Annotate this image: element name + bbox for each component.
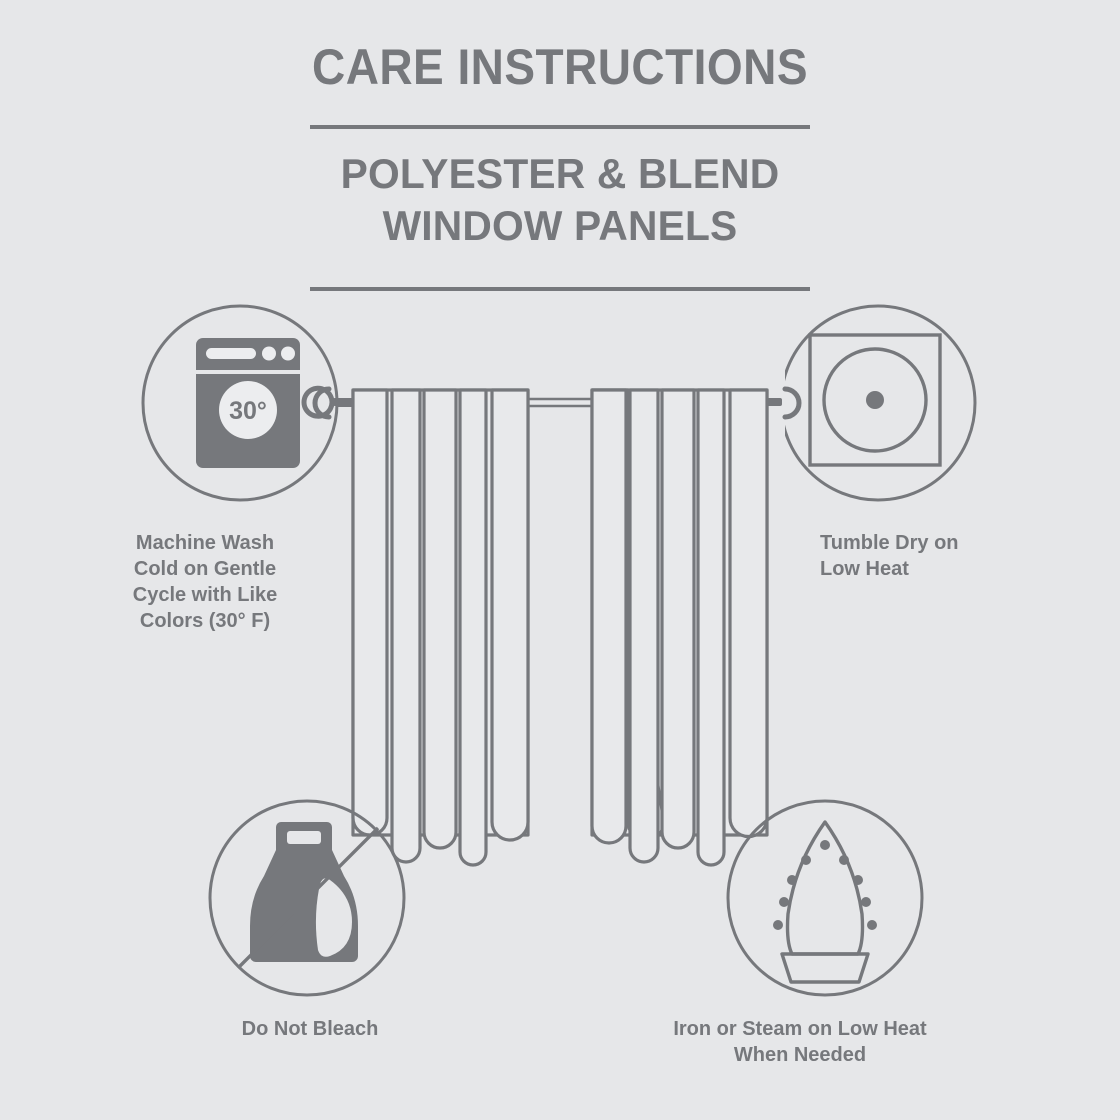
- prohibition-slash: [238, 828, 378, 968]
- caption-line: Colors (30° F): [60, 608, 350, 634]
- wash-temperature-label: 30°: [229, 397, 267, 425]
- curtain-panel-right: [592, 390, 767, 865]
- subtitle-line-2: WINDOW PANELS: [17, 200, 1103, 252]
- caption-tumble-dry: Tumble Dry on Low Heat: [820, 530, 1120, 582]
- steam-holes: [773, 840, 877, 930]
- badge-do-not-bleach: [210, 801, 404, 995]
- no-bleach-icon: [238, 822, 378, 968]
- iron-icon: [773, 822, 877, 982]
- badge-ring-dry: [781, 306, 975, 500]
- subtitle-line-1: POLYESTER & BLEND: [17, 148, 1103, 200]
- subtitle: POLYESTER & BLEND WINDOW PANELS: [0, 148, 1120, 252]
- badge-ring-wash: [143, 306, 337, 500]
- caption-line: Cycle with Like: [60, 582, 350, 608]
- divider-top: [310, 125, 810, 129]
- caption-line: Iron or Steam on Low Heat: [600, 1016, 1000, 1042]
- washing-machine-icon: 30°: [196, 338, 300, 468]
- badge-ring-bleach: [210, 801, 404, 995]
- badge-iron: [728, 801, 922, 995]
- caption-line: When Needed: [600, 1042, 1000, 1068]
- dry-heat-dot: [866, 391, 884, 409]
- caption-iron: Iron or Steam on Low Heat When Needed: [600, 1016, 1000, 1068]
- caption-machine-wash: Machine Wash Cold on Gentle Cycle with L…: [60, 530, 350, 634]
- caption-do-not-bleach: Do Not Bleach: [160, 1016, 460, 1042]
- finial-left: [304, 388, 353, 417]
- caption-line: Tumble Dry on: [820, 530, 1120, 556]
- badge-ring-iron: [728, 801, 922, 995]
- finial-right: [762, 389, 799, 417]
- page-title: CARE INSTRUCTIONS: [45, 0, 1075, 96]
- badge-tumble-dry: [781, 306, 975, 500]
- badge-machine-wash: 30°: [143, 306, 337, 500]
- tumble-dry-low-icon: [810, 335, 940, 465]
- divider-bottom: [310, 287, 810, 291]
- header: CARE INSTRUCTIONS: [0, 0, 1120, 96]
- caption-line: Do Not Bleach: [160, 1016, 460, 1042]
- caption-line: Machine Wash: [60, 530, 350, 556]
- care-instructions-infographic: CARE INSTRUCTIONS POLYESTER & BLEND WIND…: [0, 0, 1120, 1120]
- caption-line: Low Heat: [820, 556, 1120, 582]
- caption-line: Cold on Gentle: [60, 556, 350, 582]
- curtain-rod: [304, 388, 799, 417]
- curtain-panel-left: [353, 390, 528, 865]
